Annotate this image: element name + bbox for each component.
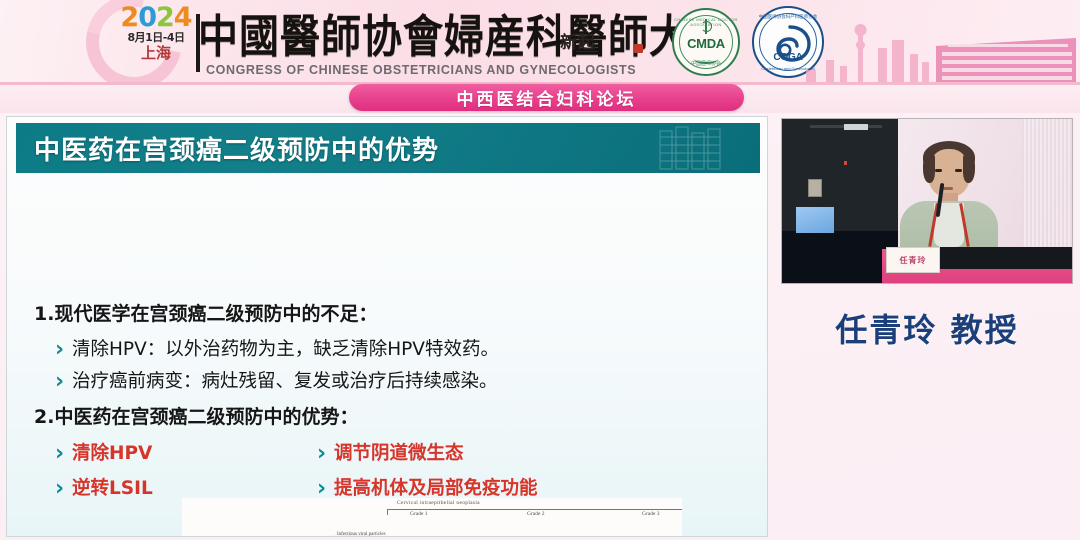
speaker-eye-right	[955, 169, 962, 172]
congress-title-english: CONGRESS OF CHINESE OBSTETRICIANS AND GY…	[206, 63, 636, 77]
section-1-heading: 1.现代医学在宫颈癌二级预防中的不足：	[34, 299, 377, 326]
video-red-light-icon	[844, 161, 847, 165]
speaker-hair-right	[963, 155, 975, 183]
chevron-right-icon: ›	[55, 371, 72, 393]
slide-title-text: 中医药在宫颈癌二级预防中的优势	[34, 130, 439, 167]
bullet-text: 调节阴道微生态	[334, 439, 464, 465]
event-header-banner: 2024 8月1日-4日 上海 中國醫師协會婦産科醫師大會 新起 CONGRES…	[0, 0, 1080, 85]
cmda-caduceus-icon	[705, 19, 707, 34]
nameplate-text: 任青玲	[900, 255, 927, 266]
bullet-text: 清除HPV：以外治药物为主，缺乏清除HPV特效药。	[72, 335, 499, 361]
red-seal-icon	[634, 44, 643, 53]
diagram-grade-label: Grade 3	[642, 511, 660, 517]
cin-progression-diagram: Cervical intraepithelial neoplasia Grade…	[182, 498, 682, 537]
video-sign	[844, 124, 868, 130]
chevron-right-icon: ›	[317, 478, 334, 500]
chevron-right-icon: ›	[55, 443, 72, 465]
chevron-right-icon: ›	[55, 339, 72, 361]
speaker-name-caption: 任青玲 教授	[781, 305, 1073, 351]
congress-title-chinese: 中國醫師协會婦産科醫師大會	[198, 1, 731, 66]
forum-banner-pill: 中西医结合妇科论坛	[349, 84, 744, 111]
speaker-video-feed[interactable]: 任青玲	[781, 118, 1073, 284]
section-2-heading: 2.中医药在宫颈癌二级预防中的优势：	[34, 402, 358, 429]
bullet-item: › 清除HPV：以外治药物为主，缺乏清除HPV特效药。	[55, 335, 499, 361]
cmda-bottom-text: 中国医师协会	[674, 60, 738, 67]
bullet-item: › 提高机体及局部免疫功能	[317, 474, 538, 500]
forum-banner-label: 中西医结合妇科论坛	[457, 85, 637, 110]
bullet-text: 治疗癌前病变：病灶残留、复发或治疗后持续感染。	[72, 367, 498, 393]
presentation-slide: 中医药在宫颈癌二级预防中的优势 1.现代医学在宫颈癌二级预防中的不足： › 清除…	[6, 116, 768, 537]
cmda-logo: CHINESE MEDICAL DOCTOR ASSOCIATION CMDA …	[672, 8, 740, 76]
video-monitor-screen	[796, 207, 834, 233]
chevron-right-icon: ›	[55, 478, 72, 500]
slide-title-decoration-icon	[630, 123, 750, 173]
logo-dates: 8月1日-4日	[112, 32, 200, 43]
podium-desk-surface	[934, 247, 1073, 269]
diagram-grade-label: Grade 1	[410, 511, 428, 517]
bullet-item: › 治疗癌前病变：病灶残留、复发或治疗后持续感染。	[55, 367, 498, 393]
logo-year: 2024	[112, 4, 200, 31]
speaker-hair-left	[923, 155, 935, 183]
bullet-item: › 调节阴道微生态	[317, 439, 464, 465]
diagram-grade-label: Grade 2	[527, 511, 545, 517]
slide-title-bar: 中医药在宫颈癌二级预防中的优势	[16, 123, 760, 173]
speaker-eye-left	[935, 169, 942, 172]
bullet-item: › 清除HPV	[55, 439, 152, 465]
event-logo-2024: 2024 8月1日-4日 上海	[112, 4, 200, 61]
bullet-text: 清除HPV	[72, 439, 152, 465]
cmda-laurel-icon	[694, 54, 718, 64]
diagram-viral-label: Infectious viral particles	[337, 532, 386, 537]
diagram-title: Cervical intraepithelial neoplasia	[397, 500, 480, 506]
cmda-abbr: CMDA	[674, 36, 738, 51]
video-wall-box	[808, 179, 822, 197]
bullet-item: › 逆转LSIL	[55, 474, 153, 500]
speaker-mouth	[943, 187, 953, 190]
video-dark-lower	[782, 231, 898, 284]
coga-abbr: COGA	[754, 52, 822, 63]
bullet-text: 提高机体及局部免疫功能	[334, 474, 538, 500]
chevron-right-icon: ›	[317, 443, 334, 465]
bullet-text: 逆转LSIL	[72, 474, 153, 500]
congress-title-chinese-sub: 新起	[560, 28, 596, 53]
speaker-nameplate: 任青玲	[886, 247, 940, 273]
shanghai-skyline-illustration	[800, 0, 1080, 85]
logo-city: 上海	[112, 46, 200, 61]
